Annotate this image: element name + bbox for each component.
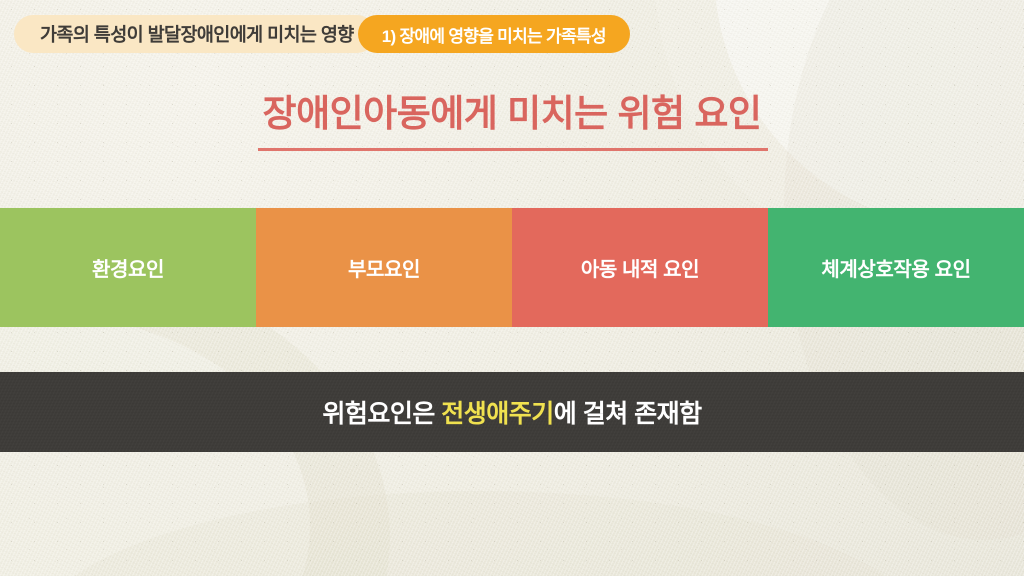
factor-bar-child-internal-label: 아동 내적 요인 <box>581 253 699 282</box>
factor-bar-group: 환경요인 부모요인 아동 내적 요인 체계상호작용 요인 <box>0 208 1024 327</box>
breadcrumb-main-pill[interactable]: 가족의 특성이 발달장애인에게 미치는 영향 <box>14 15 376 53</box>
summary-text-highlight: 전생애주기 <box>441 400 554 428</box>
factor-bar-environment[interactable]: 환경요인 <box>0 208 256 327</box>
breadcrumb-sub-label: 1) 장애에 영향을 미치는 가족특성 <box>382 22 606 47</box>
page-title-text: 장애인아동에게 미치는 위험 요인 <box>263 92 762 136</box>
summary-banner: 위험요인은 전생애주기에 걸쳐 존재함 <box>0 372 1024 452</box>
factor-bar-child-internal[interactable]: 아동 내적 요인 <box>512 208 768 327</box>
summary-banner-text: 위험요인은 전생애주기에 걸쳐 존재함 <box>322 394 701 430</box>
factor-bar-system-interaction-label: 체계상호작용 요인 <box>821 253 970 282</box>
summary-text-before: 위험요인은 <box>322 400 441 428</box>
page-title: 장애인아동에게 미치는 위험 요인 <box>0 92 1024 136</box>
title-underline <box>258 148 768 151</box>
factor-bar-parent-label: 부모요인 <box>348 253 420 282</box>
slide-canvas: 가족의 특성이 발달장애인에게 미치는 영향 1) 장애에 영향을 미치는 가족… <box>0 0 1024 576</box>
factor-bar-environment-label: 환경요인 <box>92 253 164 282</box>
summary-text-after: 에 걸쳐 존재함 <box>554 400 702 428</box>
factor-bar-parent[interactable]: 부모요인 <box>256 208 512 327</box>
breadcrumb-sub-pill[interactable]: 1) 장애에 영향을 미치는 가족특성 <box>358 15 630 53</box>
breadcrumb-main-label: 가족의 특성이 발달장애인에게 미치는 영향 <box>40 21 354 47</box>
breadcrumb: 가족의 특성이 발달장애인에게 미치는 영향 1) 장애에 영향을 미치는 가족… <box>0 14 630 54</box>
factor-bar-system-interaction[interactable]: 체계상호작용 요인 <box>768 208 1024 327</box>
